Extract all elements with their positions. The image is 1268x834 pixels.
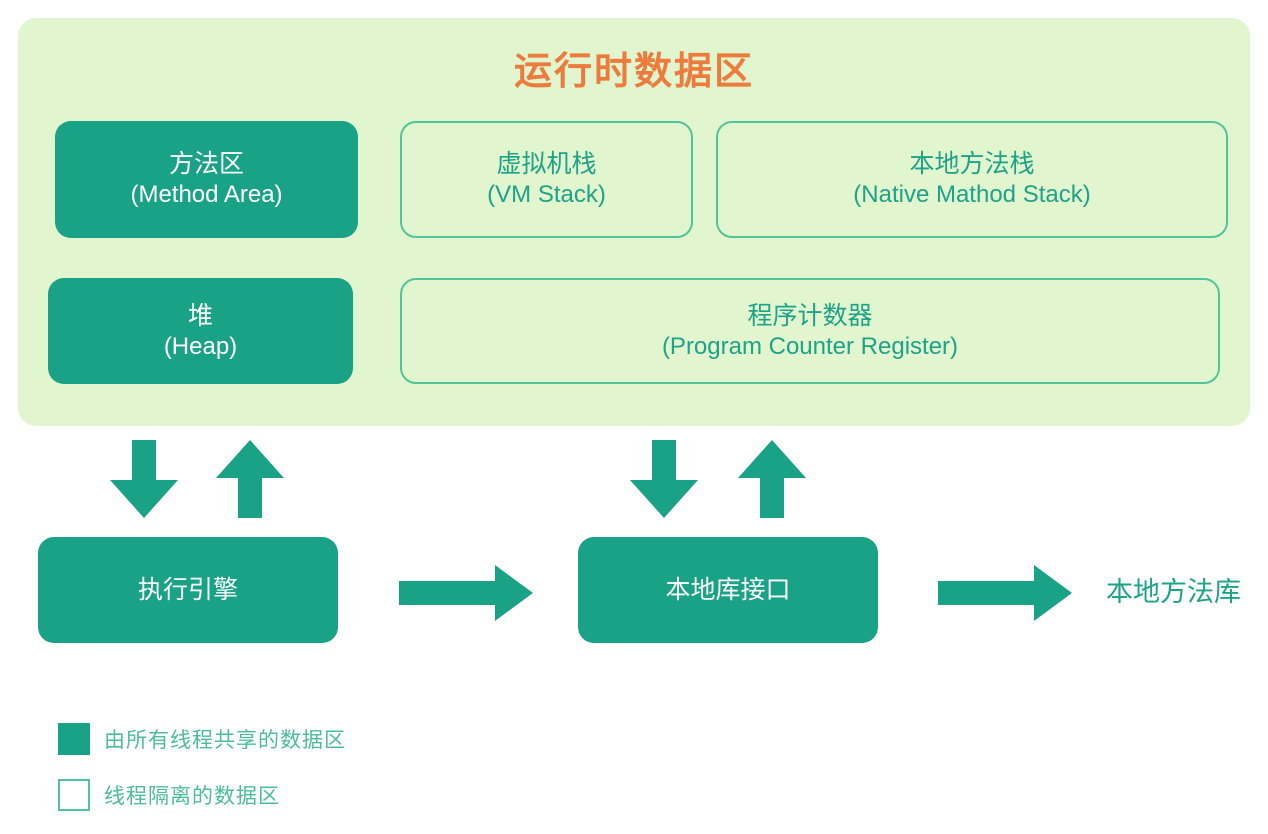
box-execution-engine[interactable]: 执行引擎 — [38, 537, 338, 643]
legend: 由所有线程共享的数据区 线程隔离的数据区 — [58, 722, 478, 834]
box-vm-stack[interactable]: 虚拟机栈 (VM Stack) — [400, 121, 693, 238]
legend-item-shared: 由所有线程共享的数据区 — [58, 722, 478, 756]
label-native-method-library: 本地方法库 — [1106, 570, 1266, 609]
legend-label-isolated: 线程隔离的数据区 — [104, 780, 280, 810]
box-heap[interactable]: 堆 (Heap) — [48, 278, 353, 384]
legend-swatch-isolated-icon — [58, 779, 90, 811]
runtime-data-area-title: 运行时数据区 — [18, 40, 1250, 95]
legend-item-isolated: 线程隔离的数据区 — [58, 778, 478, 812]
right-arrow-icon-native-interface-to-library — [938, 565, 1072, 621]
box-native-interface[interactable]: 本地库接口 — [578, 537, 878, 643]
box-vm-stack-en-label: (VM Stack) — [487, 180, 606, 211]
legend-swatch-shared-icon — [58, 723, 90, 755]
up-arrow-icon-native-interface — [736, 440, 808, 518]
box-program-counter-register-en-label: (Program Counter Register) — [662, 332, 958, 363]
down-arrow-icon-native-interface — [628, 440, 700, 518]
down-arrow-icon-exec-engine — [108, 440, 180, 518]
diagram-canvas: 运行时数据区 方法区 (Method Area) 虚拟机栈 (VM Stack)… — [0, 0, 1268, 822]
box-program-counter-register[interactable]: 程序计数器 (Program Counter Register) — [400, 278, 1220, 384]
up-arrow-icon-exec-engine — [214, 440, 286, 518]
box-vm-stack-cn-label: 虚拟机栈 — [496, 148, 596, 180]
box-program-counter-register-cn-label: 程序计数器 — [747, 300, 872, 332]
box-method-area[interactable]: 方法区 (Method Area) — [55, 121, 358, 238]
legend-label-shared: 由所有线程共享的数据区 — [104, 724, 346, 754]
box-heap-cn-label: 堆 — [188, 300, 213, 332]
right-arrow-icon-exec-to-native-interface — [399, 565, 533, 621]
box-method-area-en-label: (Method Area) — [130, 180, 282, 211]
box-native-interface-label: 本地库接口 — [665, 574, 790, 606]
box-heap-en-label: (Heap) — [164, 332, 237, 363]
box-method-area-cn-label: 方法区 — [169, 148, 244, 180]
box-execution-engine-label: 执行引擎 — [138, 574, 238, 606]
box-native-method-stack-en-label: (Native Mathod Stack) — [853, 180, 1090, 211]
box-native-method-stack[interactable]: 本地方法栈 (Native Mathod Stack) — [716, 121, 1228, 238]
box-native-method-stack-cn-label: 本地方法栈 — [909, 148, 1034, 180]
